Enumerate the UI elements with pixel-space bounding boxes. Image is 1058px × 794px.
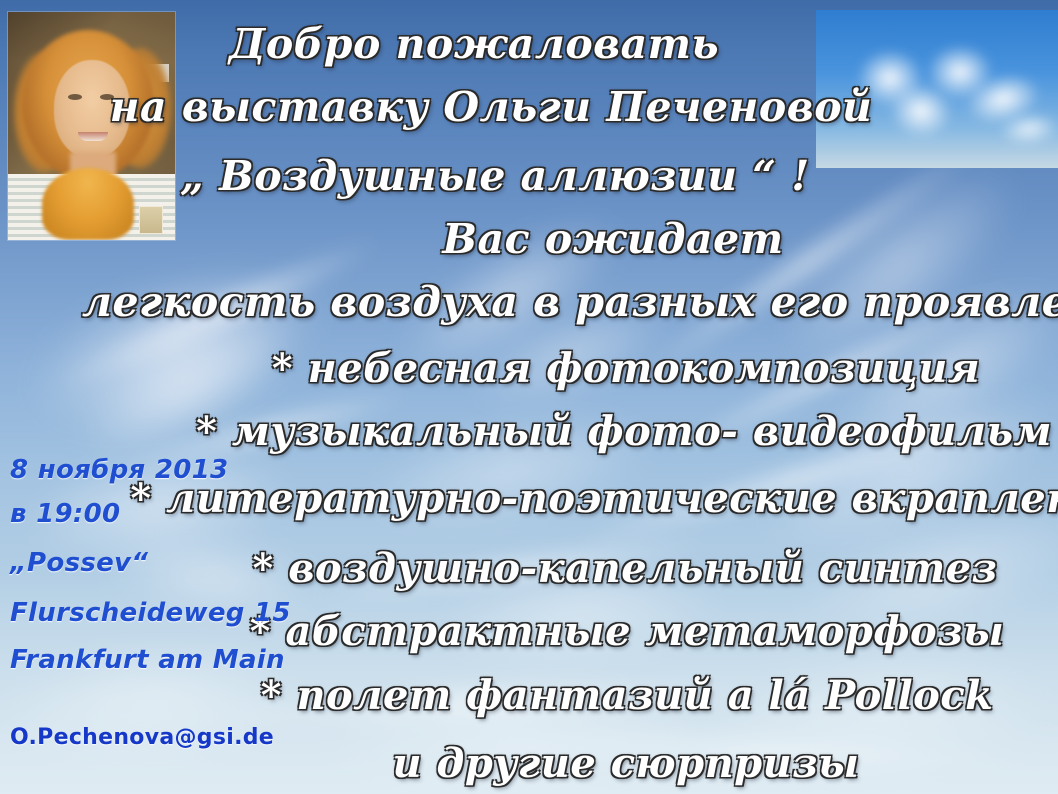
exhibition-invitation-poster: Добро пожаловать на выставку Ольги Печен… bbox=[0, 0, 1058, 794]
programme-item: * литературно-поэтические вкрапления bbox=[105, 475, 1058, 522]
event-venue: „Possev“ bbox=[10, 548, 148, 578]
exhibition-title: „ Воздушные аллюзии “ ! bbox=[0, 152, 1024, 200]
headline-line-1: Добро пожаловать bbox=[0, 20, 1003, 68]
programme-item: * полет фантазий а lá Pollock bbox=[98, 672, 1058, 719]
intro-line-2: легкость воздуха в разных его проявления… bbox=[82, 278, 1058, 326]
contact-email[interactable]: O.Pechenova@gsi.de bbox=[10, 725, 274, 750]
event-street: Flurscheideweg 15 bbox=[10, 598, 291, 628]
event-city: Frankfurt am Main bbox=[10, 645, 285, 675]
programme-item: * музыкальный фото- видеофильм bbox=[95, 408, 1058, 455]
intro-line-1: Вас ожидает bbox=[84, 215, 1058, 263]
programme-item: * небесная фотокомпозиция bbox=[97, 345, 1058, 392]
programme-item: * воздушно-капельный синтез bbox=[96, 545, 1058, 592]
headline-line-2: на выставку Ольги Печеновой bbox=[0, 83, 1020, 131]
event-date: 8 ноября 2013 bbox=[10, 455, 228, 485]
event-time: в 19:00 bbox=[10, 499, 120, 529]
